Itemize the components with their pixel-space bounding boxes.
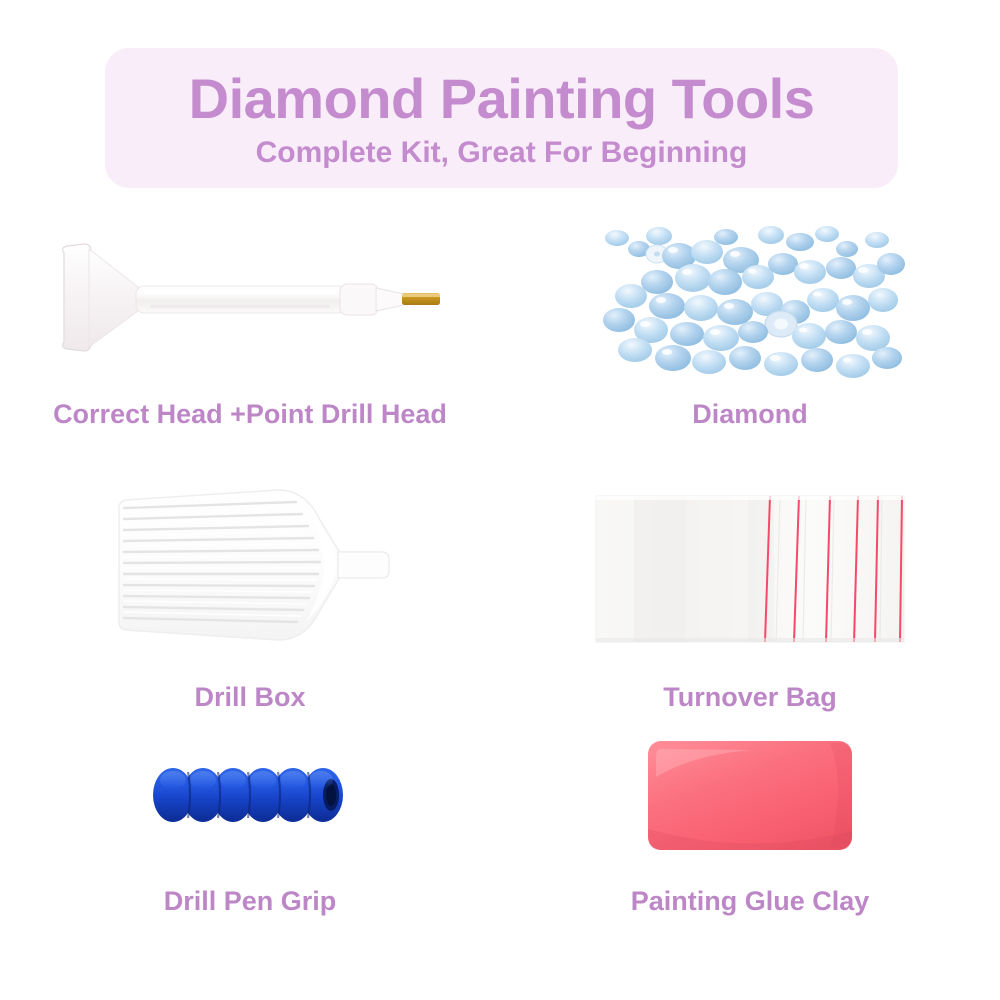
page-subtitle: Complete Kit, Great For Beginning	[256, 136, 748, 170]
product-label: Painting Glue Clay	[631, 886, 870, 917]
page-title: Diamond Painting Tools	[189, 70, 815, 129]
drill-pen-with-correct-head-icon	[0, 215, 500, 385]
clear-zip-bags-with-red-stripes-icon	[500, 475, 1000, 660]
product-cell-correct-head-point-drill-head: Correct Head +Point Drill Head	[0, 215, 500, 475]
product-cell-diamond: Diamond	[500, 215, 1000, 475]
blue-ribbed-pen-grip-icon	[0, 730, 500, 860]
product-label: Turnover Bag	[663, 682, 837, 713]
white-ridged-drill-tray-icon	[0, 475, 500, 660]
product-cell-drill-box: Drill Box	[0, 475, 500, 730]
product-infographic: Diamond Painting Tools Complete Kit, Gre…	[0, 0, 1000, 1000]
product-label: Correct Head +Point Drill Head	[53, 399, 447, 430]
product-grid: Correct Head +Point Drill Head	[0, 215, 1000, 960]
product-label: Drill Box	[194, 682, 305, 713]
product-label: Diamond	[692, 399, 808, 430]
product-cell-drill-pen-grip: Drill Pen Grip	[0, 730, 500, 960]
blue-diamond-drill-beads-pile-icon	[500, 215, 1000, 385]
product-cell-turnover-bag: Turnover Bag	[500, 475, 1000, 730]
header-banner: Diamond Painting Tools Complete Kit, Gre…	[105, 48, 898, 188]
product-label: Drill Pen Grip	[164, 886, 337, 917]
pink-glue-clay-block-icon	[500, 730, 1000, 860]
product-cell-painting-glue-clay: Painting Glue Clay	[500, 730, 1000, 960]
